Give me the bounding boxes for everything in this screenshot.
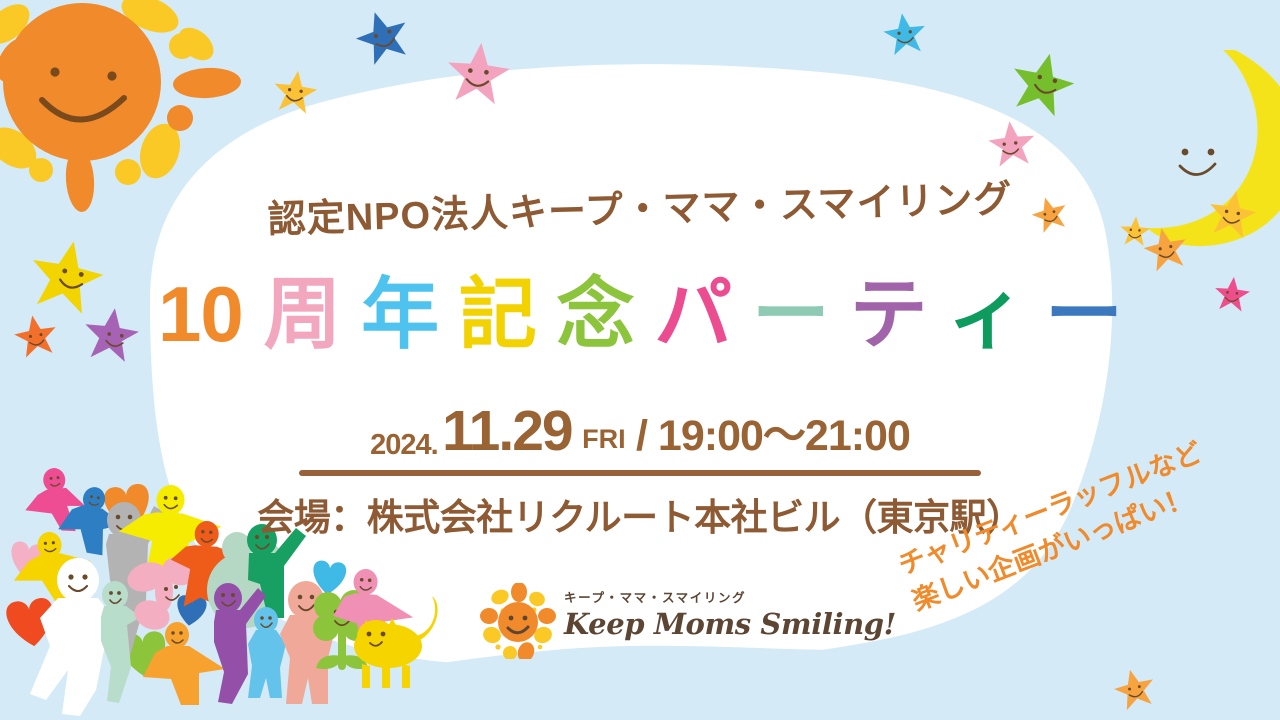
logo-kana-name: キープ・ママ・スマイリング — [564, 587, 810, 606]
title-char-pa: パ — [654, 268, 731, 360]
logo-english-name: Keep Moms Smiling! — [564, 607, 810, 641]
event-datetime: 2024. 11.29 FRI / 19:00～21:00 — [0, 398, 1280, 464]
page-title: 10 周 年 記 念 パ ー テ ィ ー — [0, 268, 1280, 360]
logo-text-block: キープ・ママ・スマイリング Keep Moms Smiling! — [564, 587, 810, 641]
event-weekday: FRI — [576, 424, 626, 454]
event-year: 2024. — [370, 429, 438, 461]
title-char-10: 10 — [158, 268, 243, 360]
divider — [299, 470, 981, 476]
title-char-shu: 周 — [263, 268, 340, 360]
title-char-te: テ — [850, 268, 927, 360]
title-char-nen2: 念 — [557, 268, 634, 360]
event-day: 11.29 — [442, 399, 572, 463]
title-char-dash1: ー — [752, 268, 829, 360]
title-char-ki: 記 — [459, 268, 536, 360]
organization-name: 認定NPO法人キープ・ママ・スマイリング — [0, 160, 1280, 251]
sun-smile-icon — [480, 583, 556, 659]
title-char-dash2: ー — [1045, 268, 1122, 360]
title-char-i: ィ — [947, 268, 1024, 360]
organization-logo: キープ・ママ・スマイリング Keep Moms Smiling! — [480, 583, 810, 659]
title-char-nen: 年 — [361, 268, 438, 360]
poster-canvas: 認定NPO法人キープ・ママ・スマイリング 10 周 年 記 念 パ ー テ ィ … — [0, 0, 1280, 720]
event-time: / 19:00～21:00 — [630, 412, 910, 460]
